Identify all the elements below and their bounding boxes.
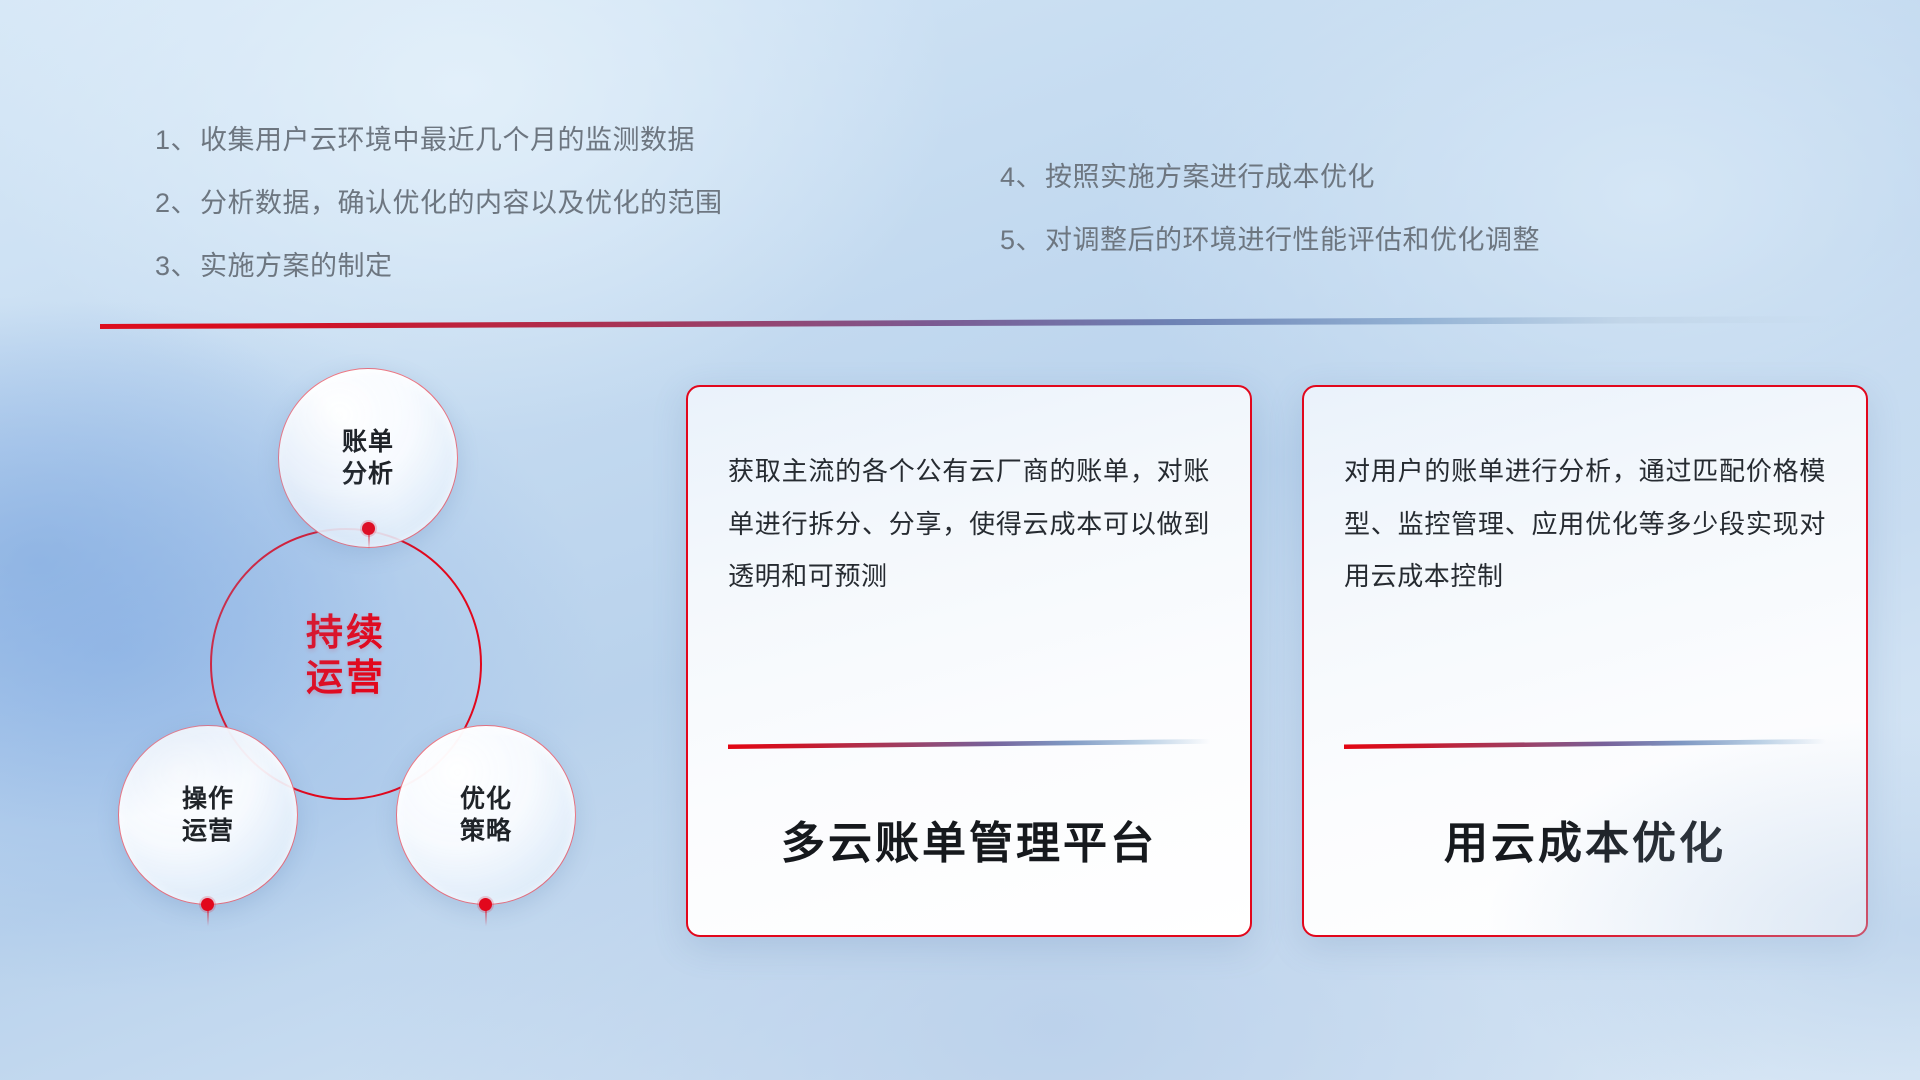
card-title: 用云成本优化	[1344, 749, 1826, 935]
list-item: 1、 收集用户云环境中最近几个月的监测数据	[155, 118, 723, 157]
venn-bubble-optimization-strategy[interactable]: 优化 策略	[396, 725, 576, 905]
venn-node-dot	[362, 522, 375, 535]
list-item-number: 5、	[1000, 218, 1043, 257]
venn-node-dot	[201, 898, 214, 911]
venn-connector-stem	[207, 910, 209, 926]
steps-list-right: 4、 按照实施方案进行成本优化 5、 对调整后的环境进行性能评估和优化调整	[1000, 155, 1540, 281]
venn-connector-stem	[368, 534, 370, 550]
list-item-number: 1、	[155, 118, 198, 157]
venn-bubble-label-line1: 操作	[182, 783, 234, 816]
list-item-text: 收集用户云环境中最近几个月的监测数据	[200, 118, 695, 157]
card-accent-rule	[728, 739, 1210, 749]
list-item: 2、 分析数据，确认优化的内容以及优化的范围	[155, 181, 723, 220]
venn-node-dot	[479, 898, 492, 911]
list-item: 3、 实施方案的制定	[155, 244, 723, 283]
venn-bubble-label-line2: 运营	[182, 815, 234, 848]
card-accent-rule	[1344, 739, 1826, 749]
venn-bubble-label-line1: 优化	[460, 783, 512, 816]
venn-bubble-label-line2: 分析	[342, 458, 394, 491]
feature-card-cost-optimization[interactable]: 对用户的账单进行分析，通过匹配价格模型、监控管理、应用优化等多少段实现对用云成本…	[1302, 385, 1868, 937]
steps-list-left: 1、 收集用户云环境中最近几个月的监测数据 2、 分析数据，确认优化的内容以及优…	[155, 118, 723, 307]
card-title: 多云账单管理平台	[728, 749, 1210, 935]
venn-bubble-billing-analysis[interactable]: 账单 分析	[278, 368, 458, 548]
list-item-number: 2、	[155, 181, 198, 220]
venn-bubble-label-line2: 策略	[460, 815, 512, 848]
list-item-text: 按照实施方案进行成本优化	[1045, 155, 1375, 194]
list-item-number: 3、	[155, 244, 198, 283]
list-item-text: 对调整后的环境进行性能评估和优化调整	[1045, 218, 1540, 257]
list-item: 5、 对调整后的环境进行性能评估和优化调整	[1000, 218, 1540, 257]
card-body-text: 对用户的账单进行分析，通过匹配价格模型、监控管理、应用优化等多少段实现对用云成本…	[1344, 445, 1826, 603]
venn-center-label-line1: 持续	[210, 610, 482, 655]
venn-diagram: 持续 运营 账单 分析 操作 运营 优化 策略	[100, 350, 640, 950]
venn-center-label-line2: 运营	[210, 655, 482, 700]
section-divider	[100, 316, 1830, 329]
list-item-text: 分析数据，确认优化的内容以及优化的范围	[200, 181, 723, 220]
card-body-text: 获取主流的各个公有云厂商的账单，对账单进行拆分、分享，使得云成本可以做到透明和可…	[728, 445, 1210, 603]
venn-connector-stem	[485, 910, 487, 926]
list-item-text: 实施方案的制定	[200, 244, 393, 283]
venn-center-label: 持续 运营	[210, 610, 482, 700]
feature-card-multicloud-billing[interactable]: 获取主流的各个公有云厂商的账单，对账单进行拆分、分享，使得云成本可以做到透明和可…	[686, 385, 1252, 937]
list-item-number: 4、	[1000, 155, 1043, 194]
venn-bubble-label-line1: 账单	[342, 426, 394, 459]
slide-canvas: 1、 收集用户云环境中最近几个月的监测数据 2、 分析数据，确认优化的内容以及优…	[0, 0, 1920, 1080]
venn-bubble-operations[interactable]: 操作 运营	[118, 725, 298, 905]
list-item: 4、 按照实施方案进行成本优化	[1000, 155, 1540, 194]
